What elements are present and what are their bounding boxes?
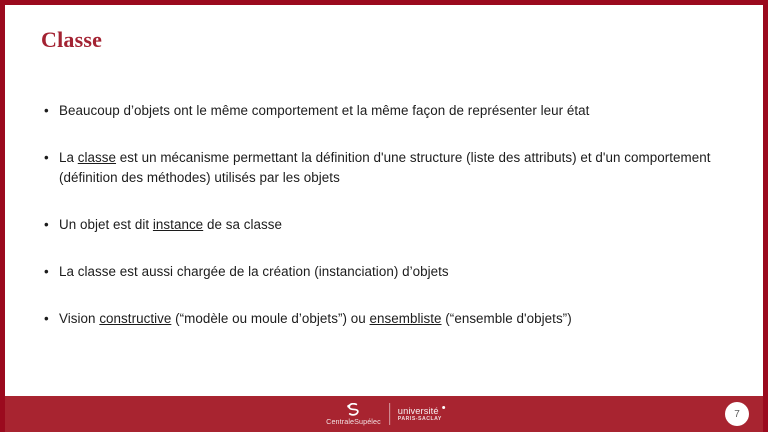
page-number-badge: 7 [725, 402, 749, 426]
bullet-marker-icon: • [44, 262, 49, 282]
bullet-term-underlined: classe [78, 150, 116, 165]
bullet-item: •Vision constructive (“modèle ou moule d… [41, 309, 731, 329]
centralesupelec-swirl-icon [343, 403, 363, 416]
bullet-text: de sa classe [203, 217, 282, 232]
centralesupelec-logo: CentraleSupélec [326, 403, 389, 426]
paris-saclay-label: PARIS-SACLAY [398, 416, 442, 423]
bullet-term-underlined: constructive [99, 311, 171, 326]
bullet-marker-icon: • [44, 215, 49, 235]
page-title: Classe [41, 27, 102, 53]
slide-footer: CentraleSupélec université PARIS-SACLAY … [5, 396, 763, 432]
bullet-text: Beaucoup d’objets ont le même comporteme… [59, 103, 589, 118]
bullet-item: •La classe est un mécanisme permettant l… [41, 148, 731, 188]
bullet-marker-icon: • [44, 101, 49, 121]
bullet-text: Un objet est dit [59, 217, 153, 232]
bullet-term-underlined: instance [153, 217, 203, 232]
slide: Classe •Beaucoup d’objets ont le même co… [0, 0, 768, 432]
bullet-text: La [59, 150, 78, 165]
bullet-item: •La classe est aussi chargée de la créat… [41, 262, 731, 282]
logo-divider [389, 403, 390, 425]
bullet-term-underlined: ensembliste [370, 311, 442, 326]
logo-dot-icon [442, 406, 445, 409]
bullet-marker-icon: • [44, 148, 49, 168]
universite-label: université [398, 406, 442, 416]
footer-logos: CentraleSupélec université PARIS-SACLAY [326, 399, 442, 429]
bullet-item: •Beaucoup d’objets ont le même comportem… [41, 101, 731, 121]
bullet-text: La classe est aussi chargée de la créati… [59, 264, 449, 279]
bullet-item: •Un objet est dit instance de sa classe [41, 215, 731, 235]
bullet-text: (“modèle ou moule d’objets”) ou [171, 311, 369, 326]
bullet-text: Vision [59, 311, 99, 326]
centralesupelec-label: CentraleSupélec [326, 417, 381, 426]
bullet-text: est un mécanisme permettant la définitio… [59, 150, 710, 185]
universite-paris-saclay-logo: université PARIS-SACLAY [398, 406, 442, 423]
bullet-marker-icon: • [44, 309, 49, 329]
bullet-text: (“ensemble d'objets”) [442, 311, 572, 326]
bullet-list: •Beaucoup d’objets ont le même comportem… [41, 101, 731, 329]
